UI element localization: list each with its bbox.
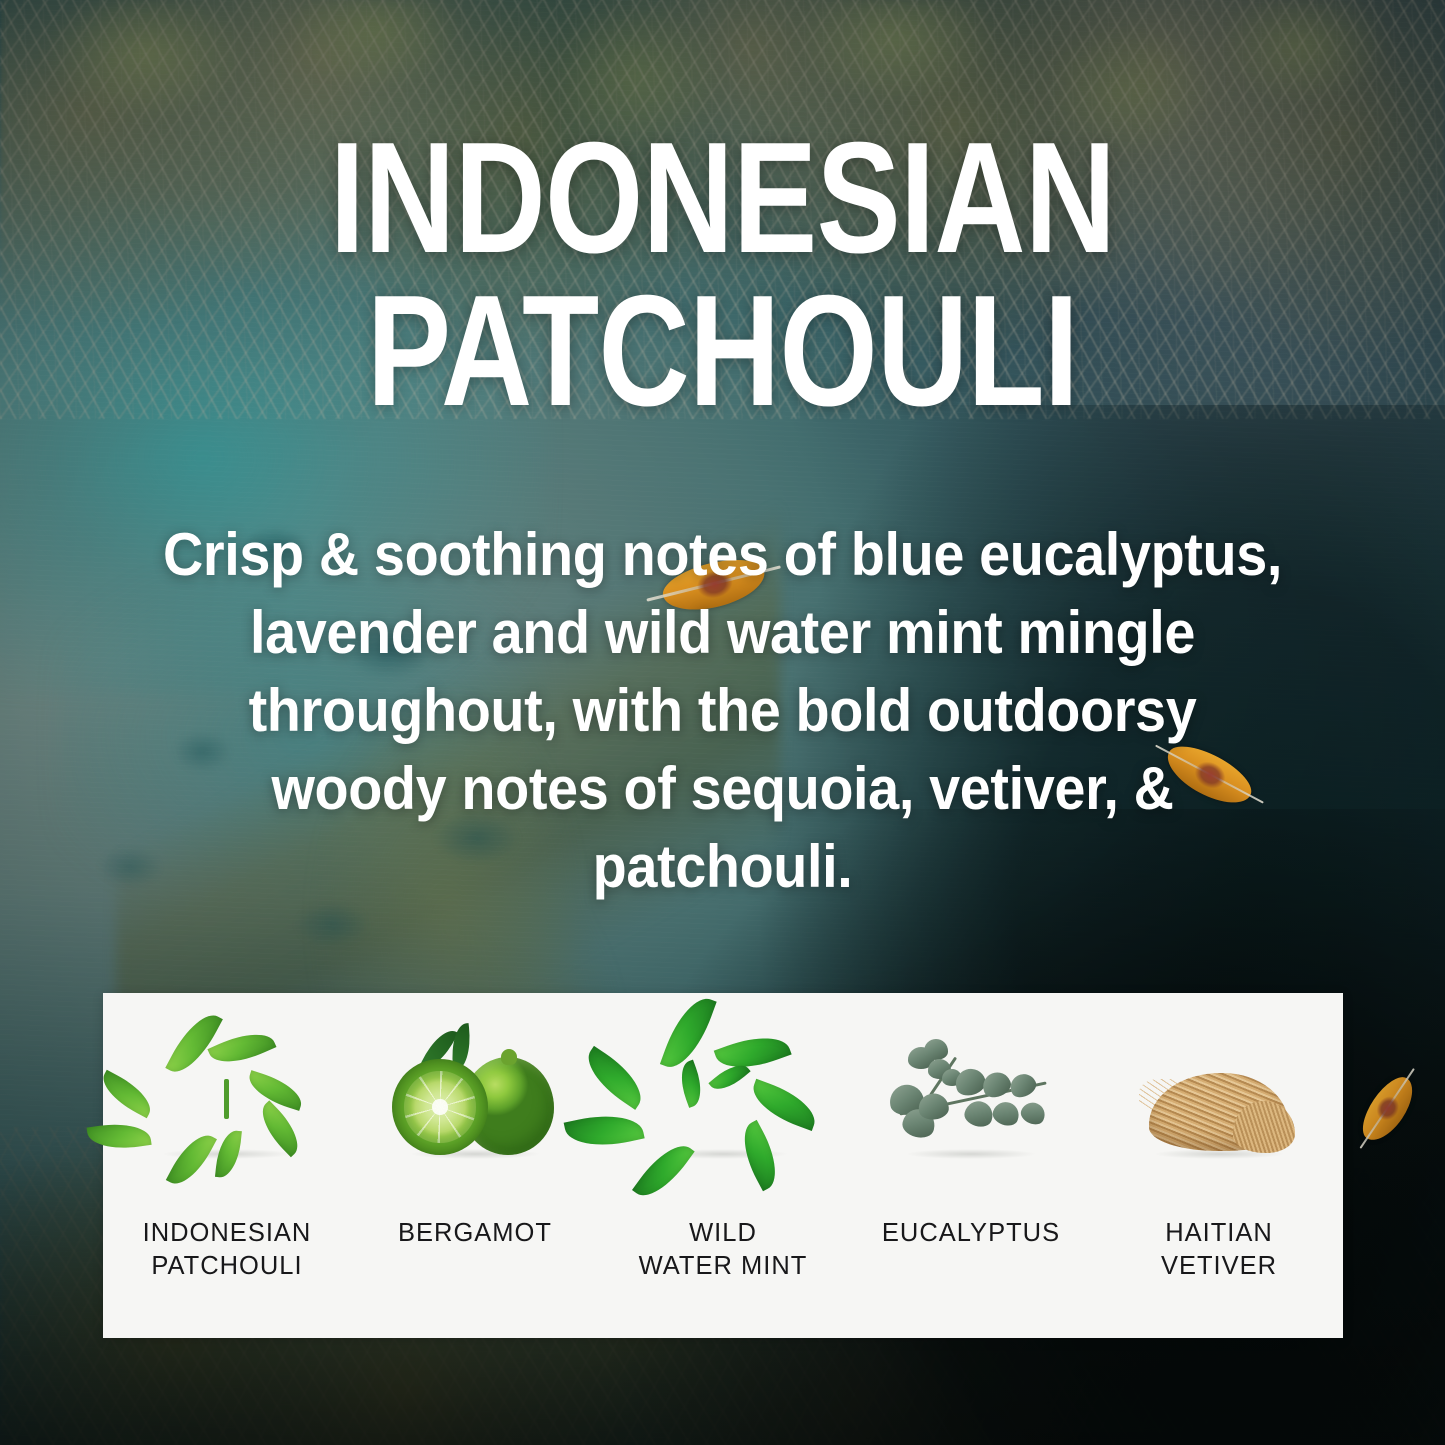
bergamot-citrus-icon [380, 1035, 570, 1161]
page-title: INDONESIAN PATCHOULI [145, 122, 1301, 429]
ingredient-label: EUCALYPTUS [882, 1217, 1060, 1250]
art-shadow [906, 1149, 1035, 1159]
mint-leaves-icon [628, 1035, 818, 1161]
ingredient-item-eucalyptus: EUCALYPTUS [847, 993, 1095, 1338]
ingredient-label: WILD WATER MINT [639, 1217, 808, 1283]
ingredient-label: INDONESIAN PATCHOULI [143, 1217, 312, 1283]
bergamot-core [432, 1099, 447, 1114]
ingredient-item-haitian-vetiver: HAITIAN VETIVER [1095, 993, 1343, 1338]
eucalyptus-branch-icon [876, 1035, 1066, 1161]
ingredient-item-wild-water-mint: WILD WATER MINT [599, 993, 847, 1338]
patchouli-leaves-icon [132, 1035, 322, 1161]
ingredient-item-indonesian-patchouli: INDONESIAN PATCHOULI [103, 993, 351, 1338]
vetiver-root-bundle [1149, 1073, 1289, 1151]
ingredient-label: BERGAMOT [398, 1217, 552, 1250]
ingredient-note-card: INDONESIAN PATCHOULI BERGAMOT [103, 993, 1343, 1338]
vetiver-root-icon [1124, 1035, 1314, 1161]
scent-description: Crisp & soothing notes of blue eucalyptu… [162, 516, 1283, 906]
title-line-2: PATCHOULI [145, 275, 1301, 428]
ingredient-label: HAITIAN VETIVER [1161, 1217, 1277, 1283]
product-scent-graphic: INDONESIAN PATCHOULI Crisp & soothing no… [0, 0, 1445, 1445]
title-line-1: INDONESIAN [330, 110, 1116, 286]
ingredient-item-bergamot: BERGAMOT [351, 993, 599, 1338]
bergamot-half [392, 1059, 488, 1155]
